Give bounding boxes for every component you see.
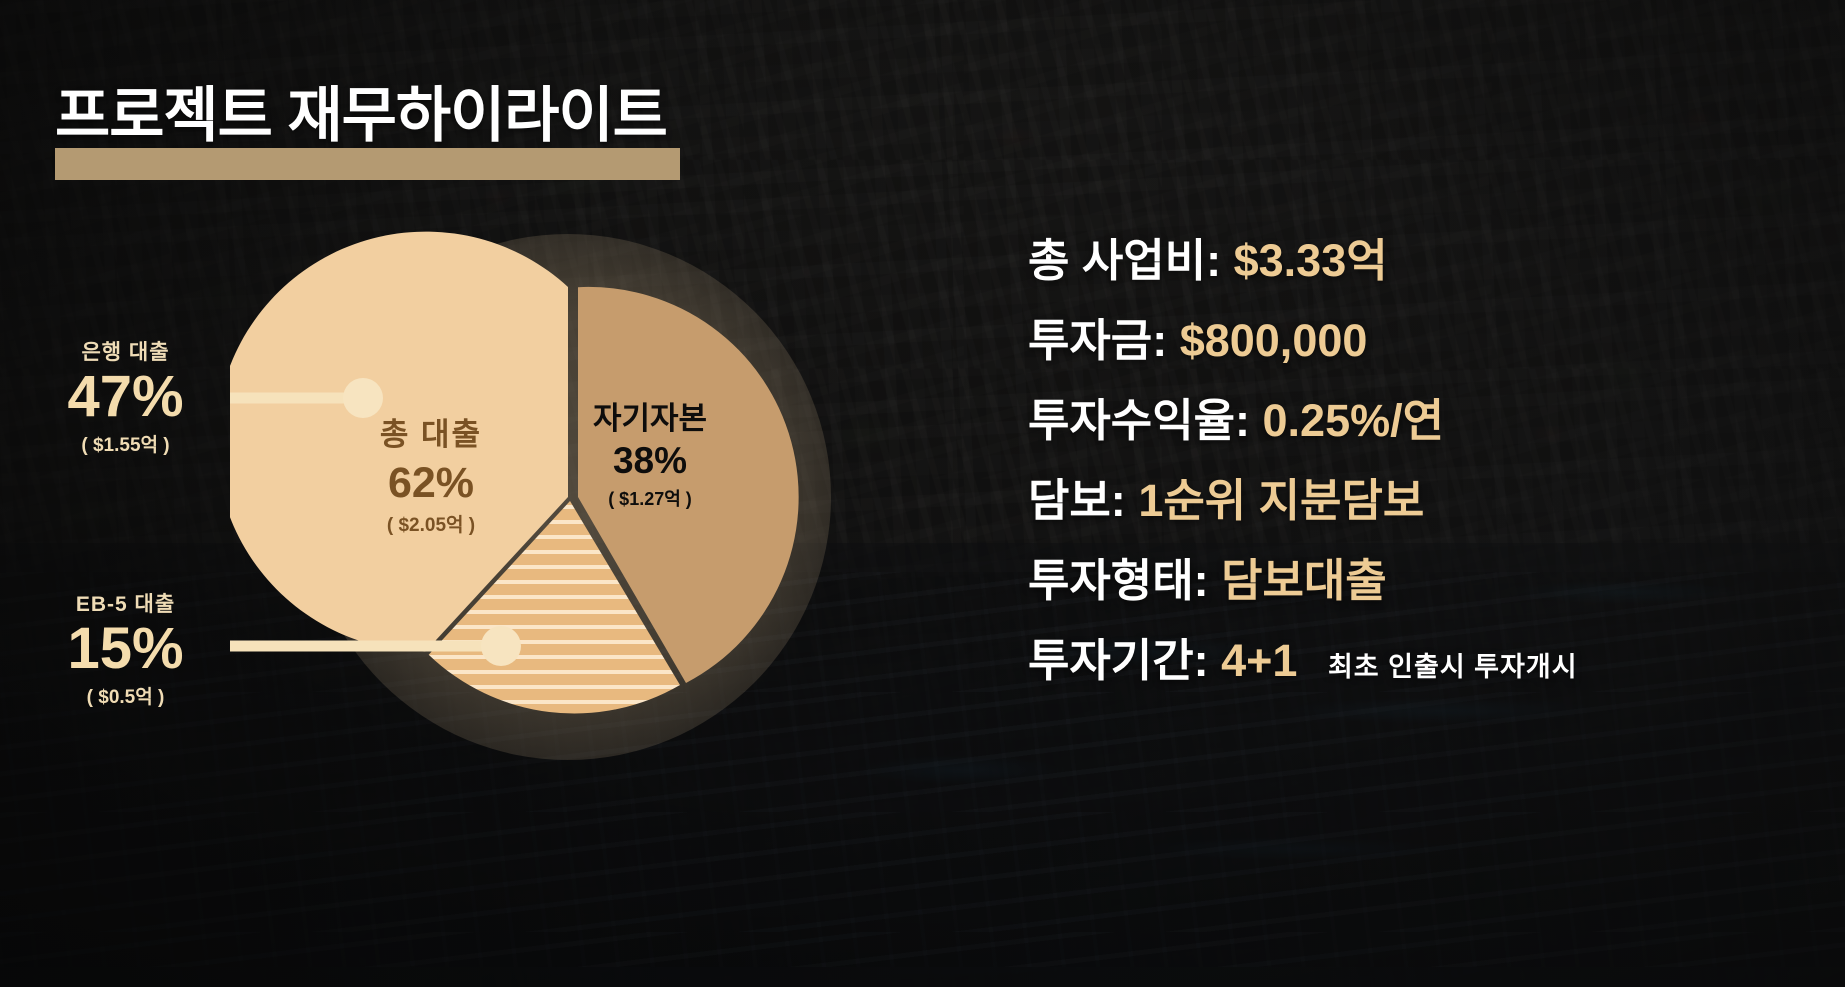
callout-bank-loan-pct: 47% xyxy=(18,368,233,426)
info-value-collateral: 1순위 지분담보 xyxy=(1138,475,1424,526)
page-title: 프로젝트 재무하이라이트 xyxy=(55,86,667,146)
pie-label-equity-pct: 38% xyxy=(535,440,765,481)
info-label-collateral: 담보: xyxy=(1028,475,1126,526)
info-value-return-rate: 0.25%/연 xyxy=(1263,395,1445,446)
info-row-term: 투자기간: 4+1 최초 인출시 투자개시 xyxy=(1028,638,1828,683)
pie-chart: 총 대출 62% ( $2.05억 ) 자기자본 38% ( $1.27억 ) xyxy=(230,190,930,830)
slide-root: 프로젝트 재무하이라이트 xyxy=(0,0,1845,987)
info-value-total-cost: $3.33억 xyxy=(1234,235,1388,286)
info-value-term: 4+1 xyxy=(1221,635,1297,686)
pie-label-equity-amount: ( $1.27억 ) xyxy=(535,489,765,509)
callout-bank-loan-name: 은행 대출 xyxy=(18,336,233,366)
info-row-investment-type: 투자형태: 담보대출 xyxy=(1028,558,1828,603)
callout-eb5-loan: EB-5 대출 15% ( $0.5억 ) xyxy=(18,588,233,709)
callout-eb5-loan-amount: ( $0.5억 ) xyxy=(18,682,233,709)
pie-label-total-loan-name: 총 대출 xyxy=(316,418,546,453)
info-row-collateral: 담보: 1순위 지분담보 xyxy=(1028,478,1828,523)
title-label: 프로젝트 재무하이라이트 xyxy=(55,86,667,146)
info-label-investment: 투자금: xyxy=(1028,315,1167,366)
financial-highlights-list: 총 사업비: $3.33억 투자금: $800,000 투자수익율: 0.25%… xyxy=(1028,238,1828,718)
info-row-investment: 투자금: $800,000 xyxy=(1028,318,1828,363)
info-note-term: 최초 인출시 투자개시 xyxy=(1328,652,1578,682)
pie-label-total-loan: 총 대출 62% ( $2.05억 ) xyxy=(316,418,546,536)
info-label-return-rate: 투자수익율: xyxy=(1028,395,1250,446)
info-row-return-rate: 투자수익율: 0.25%/연 xyxy=(1028,398,1828,443)
pie-label-total-loan-pct: 62% xyxy=(316,459,546,507)
callout-bank-loan-amount: ( $1.55억 ) xyxy=(18,430,233,457)
info-label-total-cost: 총 사업비: xyxy=(1028,235,1221,286)
pie-label-equity-name: 자기자본 xyxy=(535,402,765,437)
callout-eb5-loan-pct: 15% xyxy=(18,620,233,678)
info-label-investment-type: 투자형태: xyxy=(1028,555,1209,606)
info-value-investment-type: 담보대출 xyxy=(1221,555,1387,606)
callout-eb5-loan-name: EB-5 대출 xyxy=(18,588,233,618)
title-highlight-bar xyxy=(55,148,680,180)
pie-label-equity: 자기자본 38% ( $1.27억 ) xyxy=(535,402,765,509)
callout-bank-loan: 은행 대출 47% ( $1.55억 ) xyxy=(18,336,233,457)
info-row-total-cost: 총 사업비: $3.33억 xyxy=(1028,238,1828,283)
info-value-investment: $800,000 xyxy=(1180,315,1368,366)
pie-label-total-loan-amount: ( $2.05억 ) xyxy=(316,515,546,536)
info-label-term: 투자기간: xyxy=(1028,635,1209,686)
